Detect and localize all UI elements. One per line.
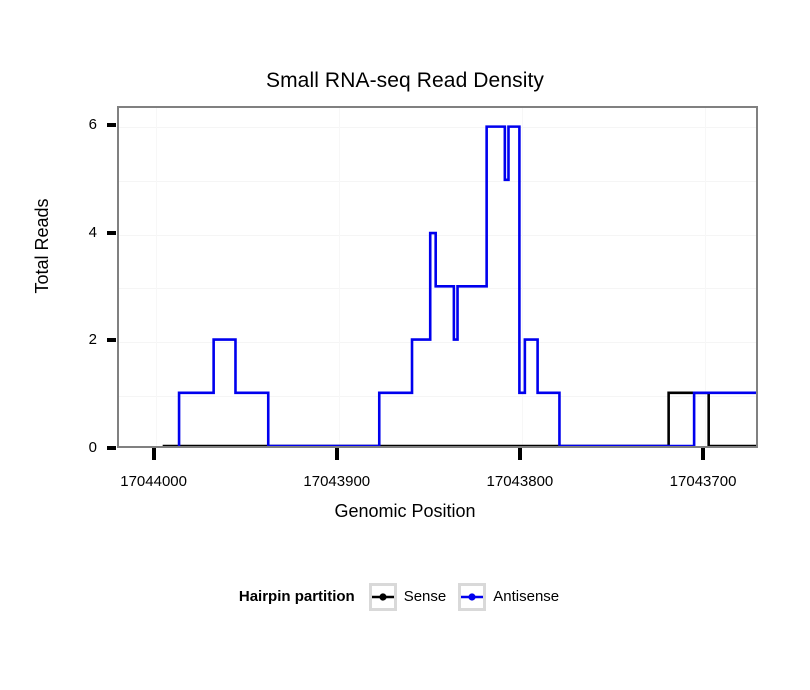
x-tick-label: 17043900	[272, 473, 402, 490]
legend-item-antisense[interactable]: Antisense	[458, 583, 559, 611]
legend-key-antisense-icon	[458, 583, 486, 611]
legend-key-sense-icon	[369, 583, 397, 611]
y-tick-label: 4	[65, 225, 97, 240]
chart-title: Small RNA-seq Read Density	[0, 68, 810, 94]
x-tick-mark	[335, 448, 339, 460]
x-tick-mark	[701, 448, 705, 460]
x-tick-label: 17043800	[455, 473, 585, 490]
series-line-sense	[163, 393, 756, 446]
y-tick-mark	[107, 123, 116, 127]
x-axis-title: Genomic Position	[0, 500, 810, 522]
legend-item-sense[interactable]: Sense	[369, 583, 447, 611]
plot-panel	[117, 106, 758, 448]
x-tick-mark	[152, 448, 156, 460]
chart-legend: Hairpin partition SenseAntisense	[0, 583, 810, 611]
legend-title: Hairpin partition	[239, 589, 355, 605]
legend-items: SenseAntisense	[369, 583, 571, 611]
chart-figure: Small RNA-seq Read Density Total Reads G…	[0, 0, 810, 690]
y-tick-mark	[107, 231, 116, 235]
x-tick-label: 17043700	[638, 473, 768, 490]
y-tick-label: 0	[65, 440, 97, 455]
y-tick-label: 6	[65, 117, 97, 132]
legend-label: Sense	[404, 589, 447, 605]
y-axis-title: Total Reads	[32, 176, 52, 316]
y-tick-label: 2	[65, 332, 97, 347]
y-tick-mark	[107, 338, 116, 342]
x-tick-mark	[518, 448, 522, 460]
plot-area	[119, 108, 756, 446]
legend-label: Antisense	[493, 589, 559, 605]
data-series-layer	[119, 108, 756, 446]
x-tick-label: 17044000	[89, 473, 219, 490]
y-tick-mark	[107, 446, 116, 450]
